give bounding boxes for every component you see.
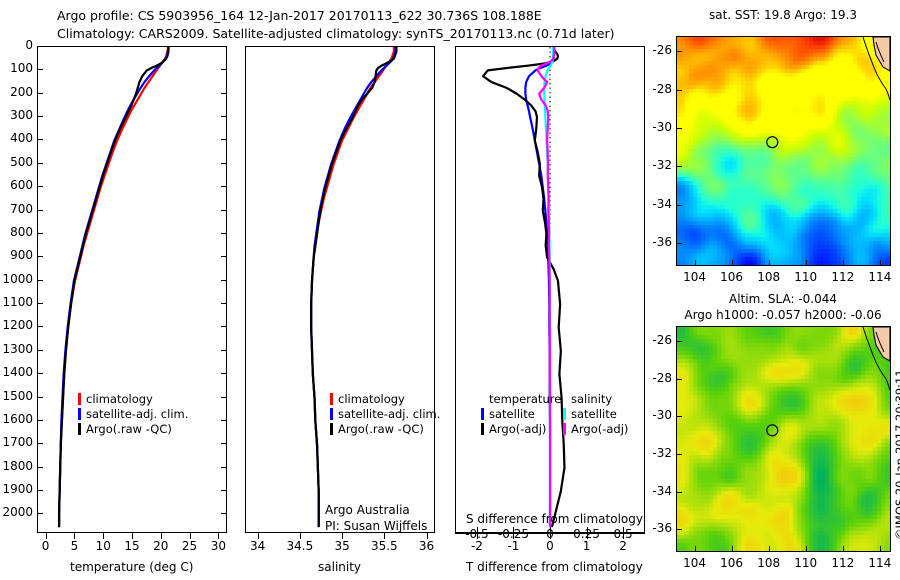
sla-lat-label: -30 <box>642 408 672 422</box>
sst-lon-tick <box>880 260 881 266</box>
sst-lat-tick <box>676 166 682 167</box>
argo-australia-annotation: Argo Australia <box>325 503 410 517</box>
sst-lon-tick <box>806 260 807 266</box>
sst-map-panel <box>676 36 891 266</box>
depth-tick-mark <box>221 513 227 514</box>
depth-tick-label: 200 <box>0 85 33 99</box>
depth-tick-label: 1200 <box>0 318 33 332</box>
legend-header-temperature: temperature <box>489 392 561 406</box>
depth-tick-label: 1800 <box>0 459 33 473</box>
legend-label: Argo(.raw -QC) <box>86 422 172 436</box>
salinity-x-tick-label: 34.5 <box>278 539 322 553</box>
depth-tick-label: 700 <box>0 202 33 216</box>
depth-tick-label: 1400 <box>0 365 33 379</box>
salinity-panel <box>245 46 435 533</box>
legend-item: climatology <box>330 391 440 406</box>
depth-tick-label: 1300 <box>0 342 33 356</box>
depth-tick-label: 1700 <box>0 435 33 449</box>
sla-lat-tick <box>676 416 682 417</box>
depth-tick-mark <box>221 186 227 187</box>
depth-tick-mark <box>37 210 43 211</box>
depth-tick-label: 1100 <box>0 295 33 309</box>
salinity-legend: climatology satellite-adj. clim. Argo(.r… <box>330 391 440 436</box>
legend-label: climatology <box>338 392 405 406</box>
imos-credit: ©IMOS 20-Jan-2017 20:39:11 <box>893 369 900 540</box>
depth-tick-mark <box>37 326 43 327</box>
depth-tick-mark <box>37 397 43 398</box>
depth-tick-mark <box>37 256 43 257</box>
legend-swatch-salinity-argo-adj <box>563 423 566 435</box>
legend-header-row: salinity <box>563 391 628 406</box>
sla-lat-label: -34 <box>642 484 672 498</box>
sst-lat-label: -34 <box>642 197 672 211</box>
depth-tick-mark <box>221 233 227 234</box>
temperature-plot-area <box>38 47 226 532</box>
sst-lon-tick <box>732 260 733 266</box>
depth-tick-mark <box>37 513 43 514</box>
legend-swatch-climatology <box>78 393 81 405</box>
legend-item: satellite-adj. clim. <box>78 406 188 421</box>
salinity-x-tick-label: 35 <box>320 539 364 553</box>
depth-tick-mark <box>37 443 43 444</box>
difference-legend-temperature: temperature satellite Argo(-adj) <box>481 391 561 436</box>
legend-swatch-argo <box>78 423 81 435</box>
difference-legend-salinity: salinity satellite Argo(-adj) <box>563 391 628 436</box>
depth-tick-mark <box>37 303 43 304</box>
depth-tick-mark <box>221 210 227 211</box>
depth-tick-mark <box>37 350 43 351</box>
sla-map-panel <box>676 326 891 552</box>
legend-label: Argo(-adj) <box>571 422 628 436</box>
depth-tick-label: 400 <box>0 131 33 145</box>
page-title-line2: Climatology: CARS2009. Satellite-adjuste… <box>57 26 614 41</box>
depth-tick-mark <box>221 139 227 140</box>
depth-tick-mark <box>221 467 227 468</box>
depth-tick-label: 800 <box>0 225 33 239</box>
legend-item: Argo(.raw -QC) <box>330 421 440 436</box>
legend-header-row: temperature <box>481 391 561 406</box>
salinity-x-tick-label: 36 <box>405 539 449 553</box>
difference-panel <box>455 46 645 533</box>
depth-tick-mark <box>37 186 43 187</box>
salinity-difference-axis-label: S difference from climatology <box>466 512 643 526</box>
salinity-x-tick-label: 34 <box>236 539 280 553</box>
legend-item: climatology <box>78 391 188 406</box>
legend-label: Argo(-adj) <box>489 422 546 436</box>
sst-lat-label: -28 <box>642 82 672 96</box>
legend-label: satellite <box>489 407 535 421</box>
legend-label: climatology <box>86 392 153 406</box>
temperature-difference-axis-label: T difference from climatology <box>466 560 643 574</box>
depth-tick-mark <box>37 490 43 491</box>
legend-label: satellite-adj. clim. <box>86 407 188 421</box>
legend-swatch-climatology <box>330 393 333 405</box>
legend-swatch-satellite-adj <box>78 408 81 420</box>
depth-tick-label: 300 <box>0 108 33 122</box>
temperature-panel <box>37 46 227 533</box>
depth-tick-mark <box>221 443 227 444</box>
depth-tick-mark <box>221 256 227 257</box>
sst-lon-tick <box>769 260 770 266</box>
legend-label: satellite <box>571 407 617 421</box>
sla-lon-tick <box>806 546 807 552</box>
depth-tick-mark <box>37 116 43 117</box>
sla-lat-tick <box>676 379 682 380</box>
depth-tick-mark <box>221 69 227 70</box>
depth-tick-mark <box>221 490 227 491</box>
depth-tick-mark <box>221 93 227 94</box>
depth-tick-mark <box>37 280 43 281</box>
legend-swatch-argo <box>330 423 333 435</box>
sst-map-raster <box>677 37 890 265</box>
legend-swatch-salinity-satellite <box>563 408 566 420</box>
sst-lat-label: -32 <box>642 158 672 172</box>
sst-lat-label: -36 <box>642 235 672 249</box>
depth-tick-label: 1600 <box>0 412 33 426</box>
sla-lat-tick <box>676 341 682 342</box>
legend-item: satellite <box>481 406 561 421</box>
legend-item: Argo(.raw -QC) <box>78 421 188 436</box>
salinity-x-tick-label: 35.5 <box>362 539 406 553</box>
sst-lon-tick <box>695 260 696 266</box>
depth-tick-mark <box>37 69 43 70</box>
legend-swatch-temperature-satellite <box>481 408 484 420</box>
sla-lat-tick <box>676 454 682 455</box>
depth-tick-mark <box>221 116 227 117</box>
sla-lon-tick <box>769 546 770 552</box>
legend-swatch-temperature-argo-adj <box>481 423 484 435</box>
legend-item: satellite-adj. clim. <box>330 406 440 421</box>
depth-tick-mark <box>221 420 227 421</box>
sla-lat-tick <box>676 529 682 530</box>
depth-tick-mark <box>37 46 43 47</box>
sla-map-title-line1: Altim. SLA: -0.044 <box>676 292 890 306</box>
sla-map-title-line2: Argo h1000: -0.057 h2000: -0.06 <box>660 308 900 322</box>
depth-tick-mark <box>37 420 43 421</box>
page-title-line1: Argo profile: CS 5903956_164 12-Jan-2017… <box>57 8 542 23</box>
sst-lat-label: -26 <box>642 43 672 57</box>
legend-item: satellite <box>563 406 628 421</box>
sla-lat-label: -32 <box>642 446 672 460</box>
sst-map-title: sat. SST: 19.8 Argo: 19.3 <box>676 8 890 22</box>
sst-lon-tick <box>843 260 844 266</box>
sst-lat-tick <box>676 243 682 244</box>
sla-lat-tick <box>676 492 682 493</box>
depth-tick-mark <box>221 397 227 398</box>
depth-tick-mark <box>221 350 227 351</box>
sst-lat-tick <box>676 90 682 91</box>
depth-tick-label: 1500 <box>0 389 33 403</box>
salinity-axis-label: salinity <box>318 560 361 574</box>
depth-tick-mark <box>221 303 227 304</box>
depth-tick-label: 2000 <box>0 505 33 519</box>
temperature-x-tick-label: 30 <box>196 539 240 553</box>
sla-lon-tick <box>843 546 844 552</box>
legend-label: Argo(.raw -QC) <box>338 422 424 436</box>
sst-lat-tick <box>676 128 682 129</box>
salinity-plot-area <box>246 47 434 532</box>
legend-item: Argo(-adj) <box>481 421 561 436</box>
sst-lat-tick <box>676 51 682 52</box>
depth-tick-mark <box>37 467 43 468</box>
sla-map-raster <box>677 327 890 551</box>
sla-lon-tick <box>880 546 881 552</box>
depth-tick-mark <box>37 163 43 164</box>
depth-tick-label: 100 <box>0 61 33 75</box>
sla-lat-label: -26 <box>642 333 672 347</box>
depth-tick-label: 1900 <box>0 482 33 496</box>
sla-lon-tick <box>695 546 696 552</box>
t-difference-x-tick-label: 2 <box>601 539 645 553</box>
depth-tick-mark <box>37 139 43 140</box>
temperature-legend: climatology satellite-adj. clim. Argo(.r… <box>78 391 188 436</box>
depth-tick-mark <box>221 326 227 327</box>
legend-swatch-satellite-adj <box>330 408 333 420</box>
depth-tick-label: 600 <box>0 178 33 192</box>
sla-lon-tick <box>732 546 733 552</box>
depth-tick-mark <box>221 46 227 47</box>
depth-tick-mark <box>221 163 227 164</box>
depth-tick-mark <box>221 373 227 374</box>
sla-lat-label: -36 <box>642 521 672 535</box>
depth-tick-mark <box>37 233 43 234</box>
depth-tick-label: 1000 <box>0 272 33 286</box>
difference-plot-area <box>456 47 644 532</box>
legend-label: satellite-adj. clim. <box>338 407 440 421</box>
depth-tick-mark <box>37 93 43 94</box>
sla-lat-label: -28 <box>642 371 672 385</box>
legend-header-salinity: salinity <box>571 392 612 406</box>
sst-lat-tick <box>676 205 682 206</box>
sst-lat-label: -30 <box>642 120 672 134</box>
sst-lon-label: 114 <box>858 270 900 284</box>
pi-annotation: PI: Susan Wijffels <box>325 519 427 533</box>
depth-tick-label: 900 <box>0 248 33 262</box>
depth-tick-label: 500 <box>0 155 33 169</box>
depth-tick-mark <box>221 280 227 281</box>
depth-tick-label: 0 <box>0 38 33 52</box>
temperature-axis-label: temperature (deg C) <box>70 560 193 574</box>
depth-tick-mark <box>37 373 43 374</box>
sla-lon-label: 114 <box>858 556 900 570</box>
legend-item: Argo(-adj) <box>563 421 628 436</box>
